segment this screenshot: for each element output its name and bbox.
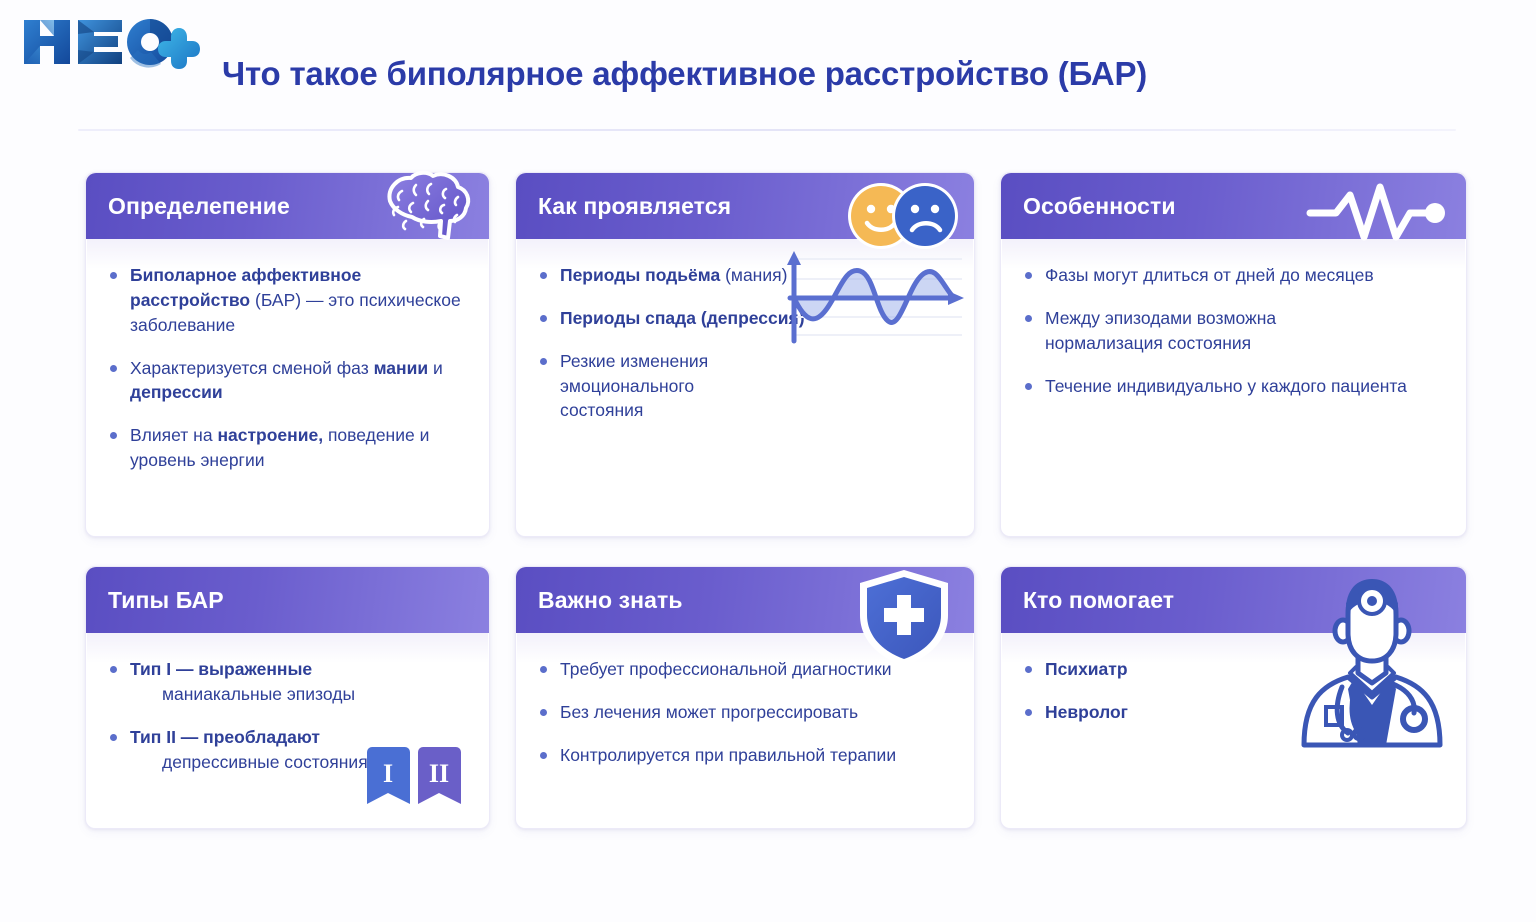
card-title-important: Важно знать: [538, 587, 683, 614]
bullet-list-types: Тип I — выраженные маниакальные эпизоды …: [108, 657, 469, 774]
page-title: Что такое биполярное аффективное расстро…: [222, 55, 1147, 93]
card-body-important: Требует профессиональной диагностики Без…: [516, 633, 974, 768]
bullet-regular-text: Течение индивидуально у каждого пациента: [1045, 376, 1407, 396]
bullet-sub-text: маниакальные эпизоды: [130, 682, 469, 707]
bullet-regular-text: Между эпизодами возможна нормализация со…: [1045, 308, 1276, 353]
infographic-page: Что такое биполярное аффективное расстро…: [0, 0, 1536, 922]
bullet-bold-text: Невролог: [1045, 702, 1128, 722]
list-item: Требует профессиональной диагностики: [538, 657, 954, 682]
bullet-regular-text: и: [428, 358, 443, 378]
bullet-list-features: Фазы могут длиться от дней до месяцев Ме…: [1023, 263, 1446, 398]
bullet-sub-text: депрессивные состояния: [130, 750, 469, 775]
card-header-who-helps: Кто помогает: [1001, 567, 1466, 633]
emotional-wave-chart: [776, 245, 966, 345]
bullet-regular-text: Резкие изменения эмоционального состояни…: [560, 351, 708, 421]
bullet-bold-text: Психиатр: [1045, 659, 1128, 679]
bullet-regular-text: Фазы могут длиться от дней до месяцев: [1045, 265, 1374, 285]
card-title-features: Особенности: [1023, 193, 1176, 220]
bullet-bold-text: Периоды спада (депрессия): [560, 308, 805, 328]
list-item: Между эпизодами возможна нормализация со…: [1023, 306, 1323, 356]
list-item: Характеризуется сменой фаз мании и депре…: [108, 356, 469, 406]
card-features: Особенности Фазы могут длиться от дней д…: [1000, 172, 1467, 537]
card-body-features: Фазы могут длиться от дней до месяцев Ме…: [1001, 239, 1466, 398]
card-header-important: Важно знать: [516, 567, 974, 633]
list-item: Резкие изменения эмоционального состояни…: [538, 349, 778, 424]
list-item: Психиатр: [1023, 657, 1446, 682]
card-types: Типы БАР I II Тип I — выраженные маниака…: [85, 566, 490, 829]
bullet-bold-text: настроение,: [217, 425, 323, 445]
card-body-manifestation: Периоды подьёма (мания) Периоды спада (д…: [516, 239, 974, 423]
bullet-list-definition: Биполарное аффективное расстройство (БАР…: [108, 263, 469, 473]
bullet-regular-text: Характеризуется сменой фаз: [130, 358, 374, 378]
card-manifestation: Как проявляется: [515, 172, 975, 537]
bullet-bold-text: Тип II — преобладают: [130, 727, 320, 747]
list-item: Течение индивидуально у каждого пациента: [1023, 374, 1446, 399]
card-title-manifestation: Как проявляется: [538, 193, 731, 220]
bullet-regular-text: Влияет на: [130, 425, 217, 445]
list-item: Контролируется при правильной терапии: [538, 743, 954, 768]
card-title-definition: Определепение: [108, 193, 290, 220]
bullet-bold-text: депрессии: [130, 382, 223, 402]
bullet-regular-text: Требует профессиональной диагностики: [560, 659, 892, 679]
neo-plus-logo: [18, 14, 203, 70]
list-item: Тип II — преобладают депрессивные состоя…: [108, 725, 469, 775]
card-who-helps: Кто помогает: [1000, 566, 1467, 829]
card-header-definition: Определепение: [86, 173, 489, 239]
card-body-definition: Биполарное аффективное расстройство (БАР…: [86, 239, 489, 473]
bullet-bold-text: мании: [374, 358, 429, 378]
card-important: Важно знать Требу: [515, 566, 975, 829]
bullet-regular-text: Без лечения может прогрессировать: [560, 702, 858, 722]
card-header-manifestation: Как проявляется: [516, 173, 974, 239]
list-item: Биполарное аффективное расстройство (БАР…: [108, 263, 469, 338]
card-header-features: Особенности: [1001, 173, 1466, 239]
title-divider: [78, 129, 1456, 131]
bullet-bold-text: Периоды подьёма: [560, 265, 720, 285]
bullet-regular-text: Контролируется при правильной терапии: [560, 745, 896, 765]
card-body-who-helps: Психиатр Невролог: [1001, 633, 1466, 725]
card-title-who-helps: Кто помогает: [1023, 587, 1174, 614]
card-title-types: Типы БАР: [108, 587, 224, 614]
list-item: Без лечения может прогрессировать: [538, 700, 954, 725]
card-definition: Определепение: [85, 172, 490, 537]
list-item: Фазы могут длиться от дней до месяцев: [1023, 263, 1446, 288]
list-item: Влияет на настроение, поведение и уровен…: [108, 423, 469, 473]
list-item: Невролог: [1023, 700, 1446, 725]
bullet-list-important: Требует профессиональной диагностики Без…: [538, 657, 954, 768]
list-item: Тип I — выраженные маниакальные эпизоды: [108, 657, 469, 707]
bullet-bold-text: Тип I — выраженные: [130, 659, 312, 679]
page-header: Что такое биполярное аффективное расстро…: [0, 0, 1536, 128]
cards-grid: Определепение: [85, 172, 1457, 829]
card-body-types: Тип I — выраженные маниакальные эпизоды …: [86, 633, 489, 774]
bullet-list-who-helps: Психиатр Невролог: [1023, 657, 1446, 725]
card-header-types: Типы БАР: [86, 567, 489, 633]
